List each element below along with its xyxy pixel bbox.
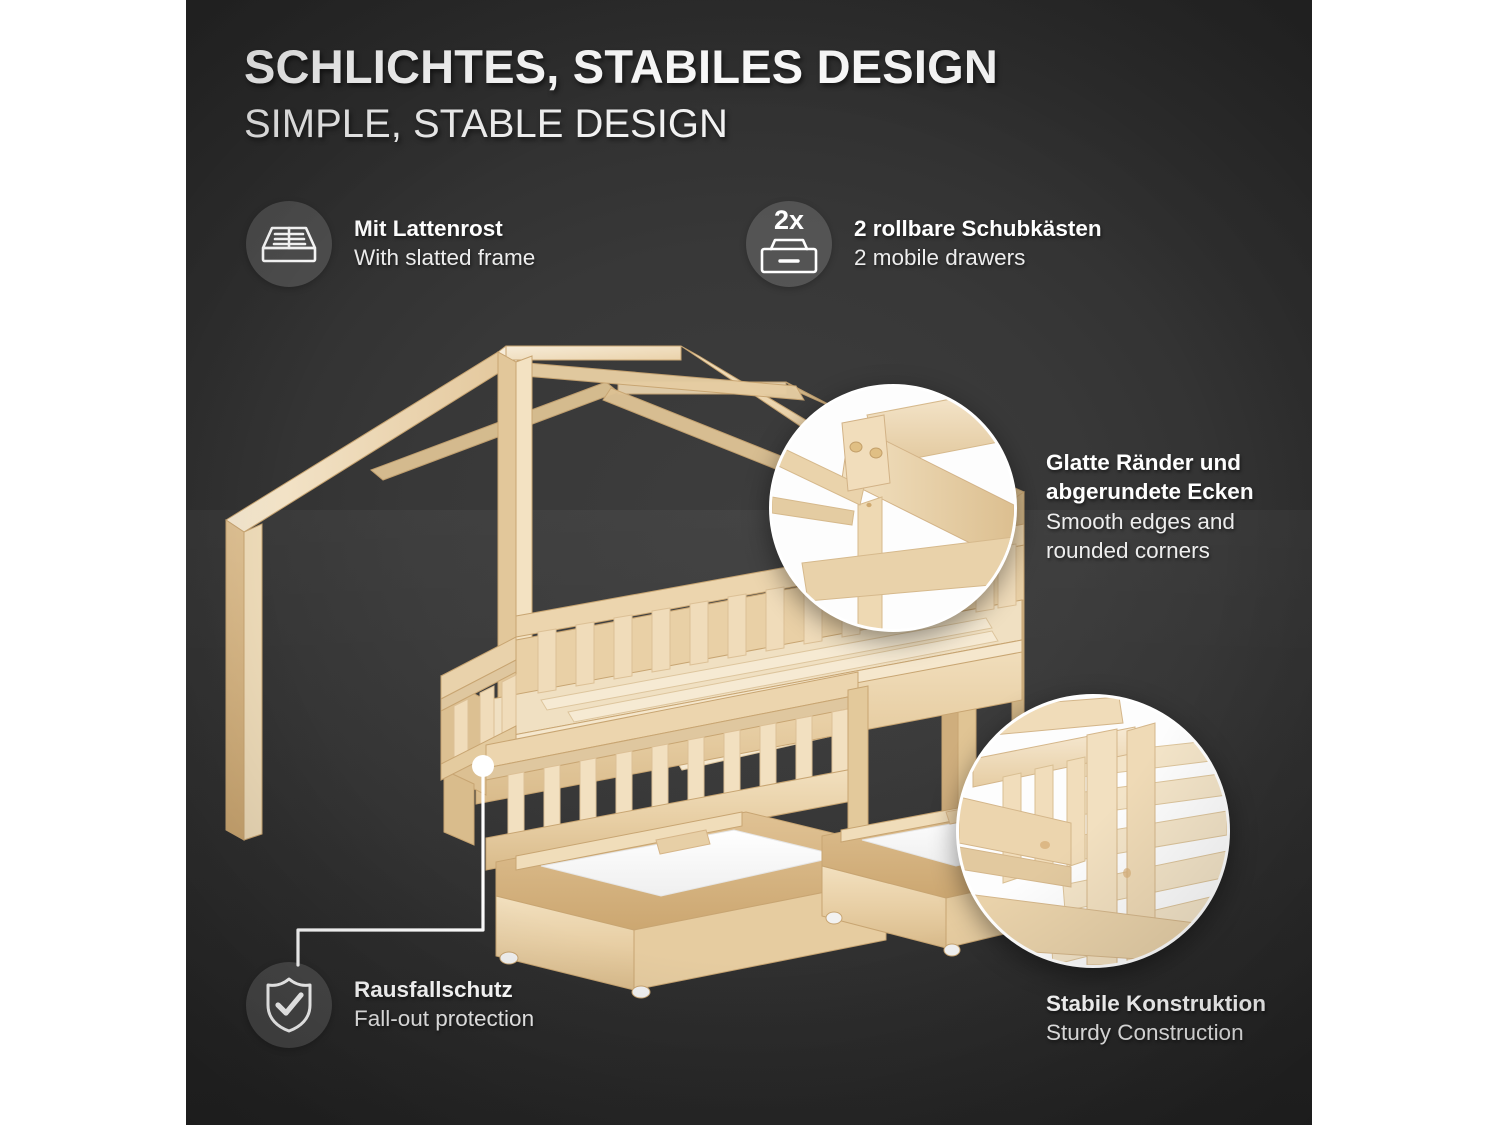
page-title: SCHLICHTES, STABILES DESIGN <box>244 42 1264 92</box>
feature-icon-circle <box>246 962 332 1048</box>
page-subtitle: SIMPLE, STABLE DESIGN <box>244 103 1264 145</box>
shield-check-icon <box>262 975 316 1035</box>
callout-sturdy-construction: Stabile Konstruktion Sturdy Construction <box>1046 989 1266 1048</box>
feature-label-de: Mit Lattenrost <box>354 215 535 244</box>
detail-zoom-frame-construction <box>956 694 1230 968</box>
feature-label-en: With slatted frame <box>354 244 535 273</box>
feature-label-en: 2 mobile drawers <box>854 244 1102 273</box>
slatted-bed-base-icon <box>260 219 318 269</box>
callout-label-de-line1: Glatte Ränder und <box>1046 448 1254 477</box>
letterbox-left <box>0 0 186 1125</box>
feature-label-en: Fall-out protection <box>354 1005 534 1034</box>
feature-fall-out-protection: Rausfallschutz Fall-out protection <box>246 962 534 1048</box>
callout-label-en-line1: Smooth edges and <box>1046 507 1254 536</box>
callout-label-en-line2: rounded corners <box>1046 536 1254 565</box>
drawer-count-badge: 2x <box>757 207 821 234</box>
detail-zoom-roof-joint <box>769 384 1017 632</box>
letterbox-right <box>1312 0 1500 1125</box>
feature-icon-circle: 2x <box>746 201 832 287</box>
feature-slatted-frame: Mit Lattenrost With slatted frame <box>246 201 535 287</box>
drawer-icon <box>760 237 818 275</box>
infographic-canvas: SCHLICHTES, STABILES DESIGN SIMPLE, STAB… <box>0 0 1500 1125</box>
feature-label-de: 2 rollbare Schubkästen <box>854 215 1102 244</box>
callout-label-en: Sturdy Construction <box>1046 1018 1266 1047</box>
feature-label-de: Rausfallschutz <box>354 976 534 1005</box>
callout-label-de-line2: abgerundete Ecken <box>1046 477 1254 506</box>
feature-drawers: 2x 2 rollbare Schubkästen 2 mobile drawe… <box>746 201 1102 287</box>
feature-icon-circle <box>246 201 332 287</box>
dark-background-panel: SCHLICHTES, STABILES DESIGN SIMPLE, STAB… <box>186 0 1312 1125</box>
callout-label-de: Stabile Konstruktion <box>1046 989 1266 1018</box>
callout-smooth-edges: Glatte Ränder und abgerundete Ecken Smoo… <box>1046 448 1254 565</box>
